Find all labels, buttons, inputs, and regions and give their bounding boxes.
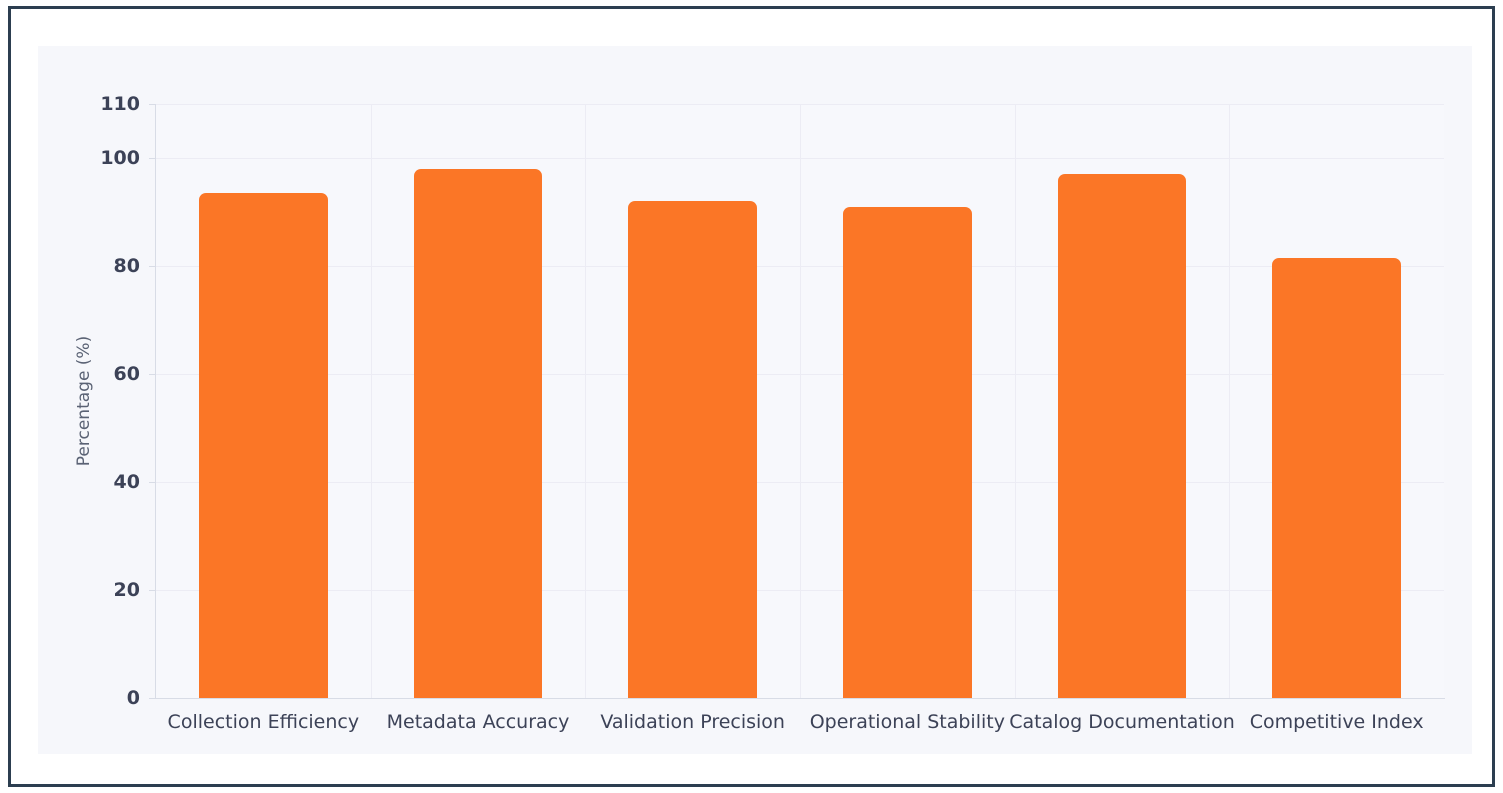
y-tick-mark <box>149 104 155 105</box>
y-tick-mark <box>149 374 155 375</box>
y-axis-line <box>155 104 156 699</box>
y-tick-mark <box>149 590 155 591</box>
page-frame: Percentage (%) 020406080100110 Collectio… <box>8 6 1495 787</box>
y-tick-label: 80 <box>114 255 140 277</box>
y-tick-label: 40 <box>114 471 140 493</box>
plot-area <box>156 104 1444 698</box>
y-tick-mark <box>149 698 155 699</box>
x-tick-label: Collection Efficiency <box>168 711 360 733</box>
y-tick-label: 20 <box>114 579 140 601</box>
gridline-vertical <box>585 104 586 698</box>
bar[interactable] <box>1272 258 1401 698</box>
x-axis-line <box>155 698 1445 699</box>
y-tick-label: 100 <box>100 147 140 169</box>
x-tick-label: Metadata Accuracy <box>387 711 570 733</box>
y-axis-title: Percentage (%) <box>74 336 94 466</box>
y-tick-mark <box>149 266 155 267</box>
chart-card: Percentage (%) 020406080100110 Collectio… <box>38 46 1472 754</box>
gridline-vertical <box>1229 104 1230 698</box>
x-tick-label: Operational Stability <box>810 711 1005 733</box>
y-tick-label: 60 <box>114 363 140 385</box>
gridline-vertical <box>1015 104 1016 698</box>
bar[interactable] <box>843 207 972 698</box>
gridline-vertical <box>800 104 801 698</box>
bar[interactable] <box>628 201 757 698</box>
y-tick-mark <box>149 158 155 159</box>
y-tick-label: 110 <box>100 93 140 115</box>
x-tick-label: Validation Precision <box>600 711 785 733</box>
y-tick-label: 0 <box>127 687 140 709</box>
bar[interactable] <box>1058 174 1187 698</box>
gridline-vertical <box>371 104 372 698</box>
y-tick-mark <box>149 482 155 483</box>
x-tick-label: Catalog Documentation <box>1009 711 1234 733</box>
bar[interactable] <box>414 169 543 698</box>
x-tick-label: Competitive Index <box>1250 711 1424 733</box>
bar[interactable] <box>199 193 328 698</box>
